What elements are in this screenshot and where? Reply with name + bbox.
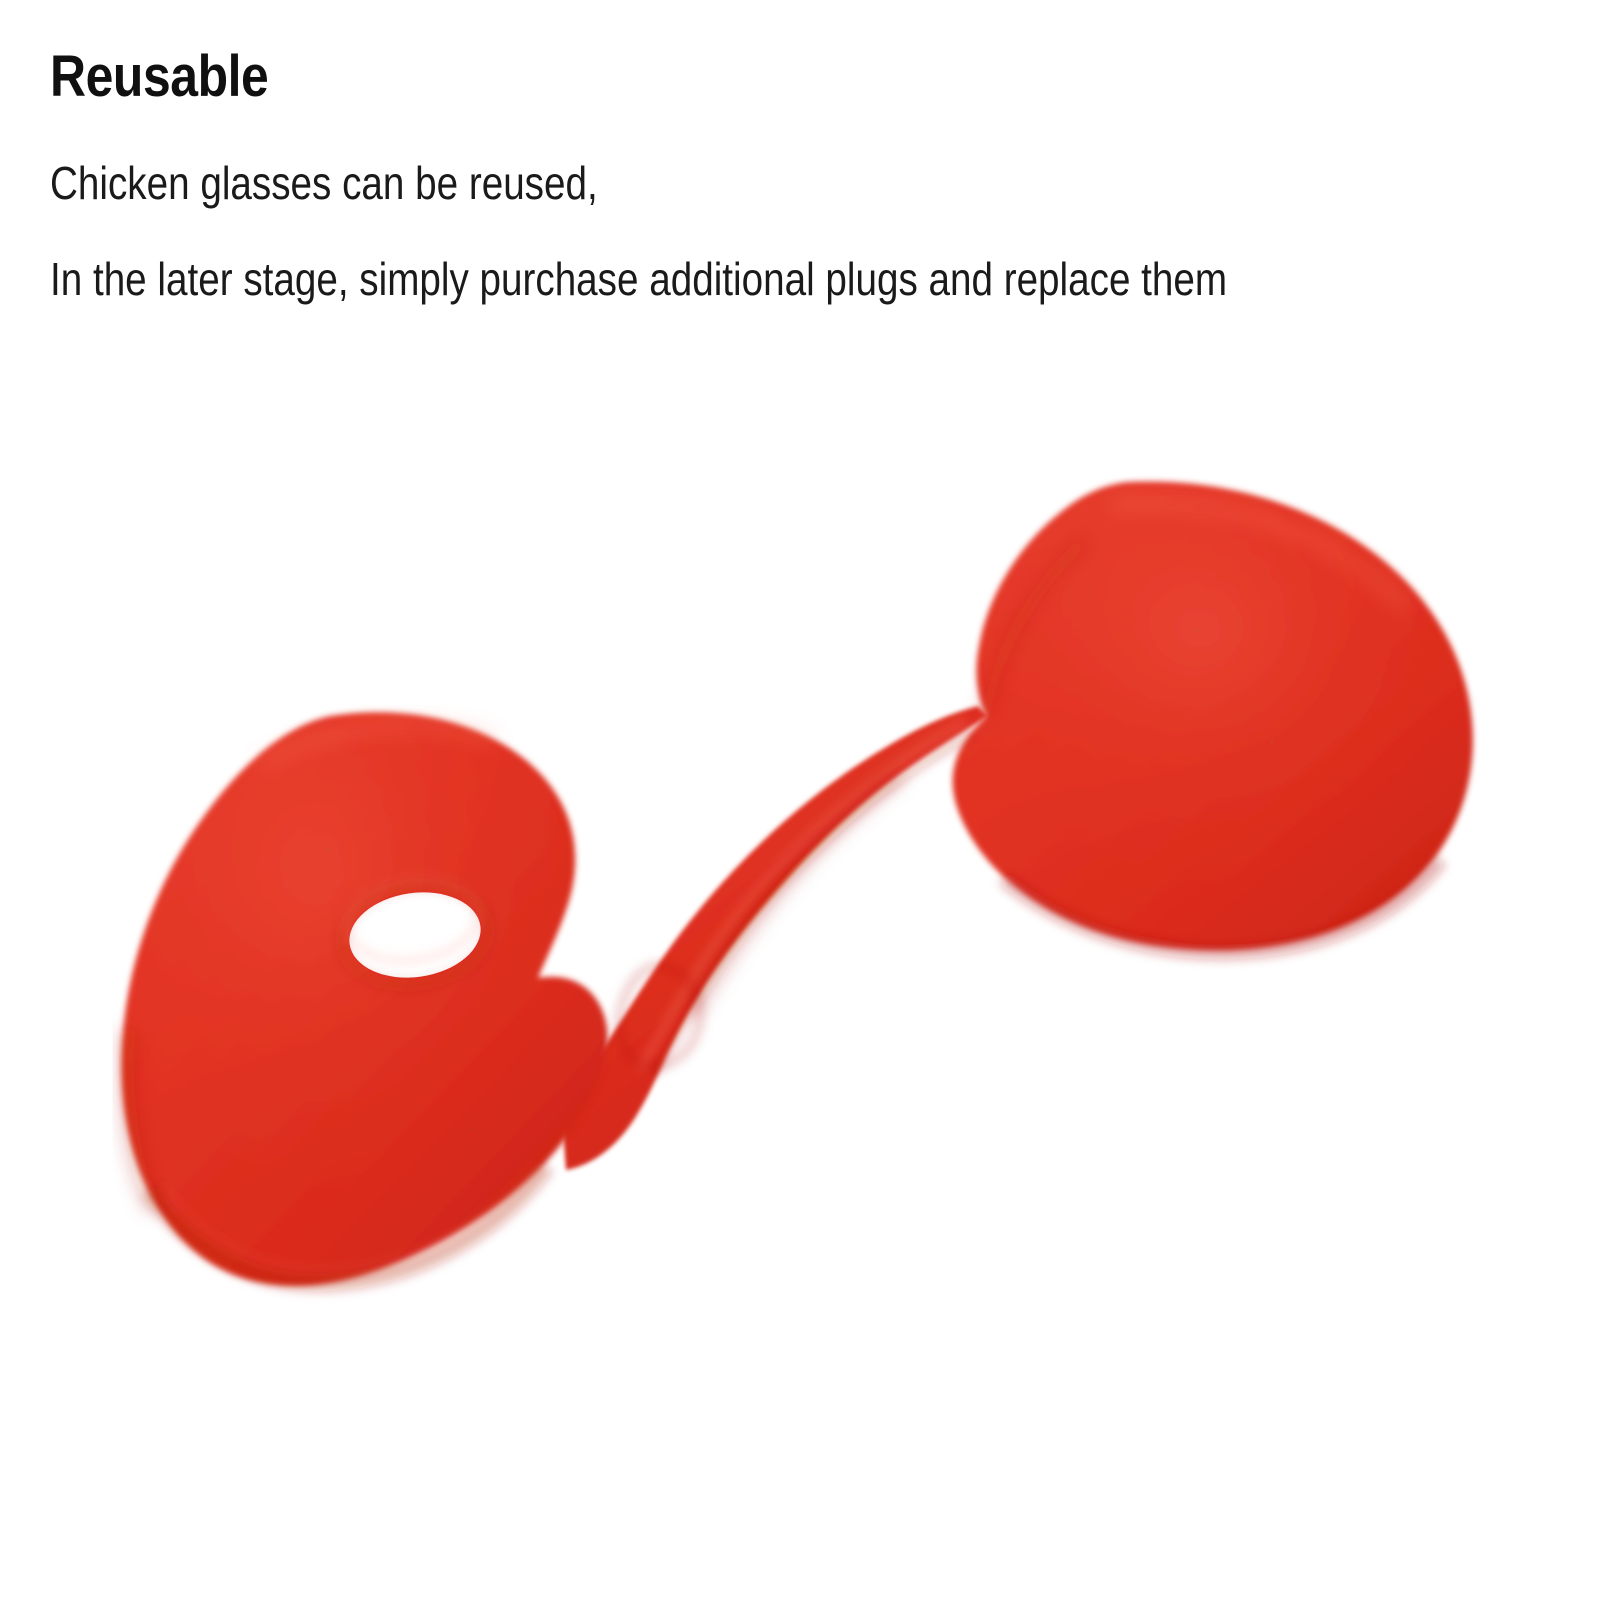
surface-speck	[1270, 740, 1275, 744]
surface-speck	[467, 1128, 473, 1132]
text-block: Reusable Chicken glasses can be reused, …	[50, 48, 1550, 302]
description-line-2: In the later stage, simply purchase addi…	[50, 256, 1310, 302]
left-lens-disc	[121, 712, 607, 1286]
surface-speck	[1193, 628, 1199, 632]
chicken-glasses-illustration	[0, 330, 1600, 1600]
page-title: Reusable	[50, 48, 1340, 106]
page-root: Reusable Chicken glasses can be reused, …	[0, 0, 1600, 1600]
surface-speck	[325, 848, 331, 852]
description-line-1: Chicken glasses can be reused,	[50, 160, 1310, 206]
right-lens-disc	[953, 481, 1473, 950]
product-photo	[0, 330, 1600, 1600]
bridge	[560, 706, 988, 1170]
